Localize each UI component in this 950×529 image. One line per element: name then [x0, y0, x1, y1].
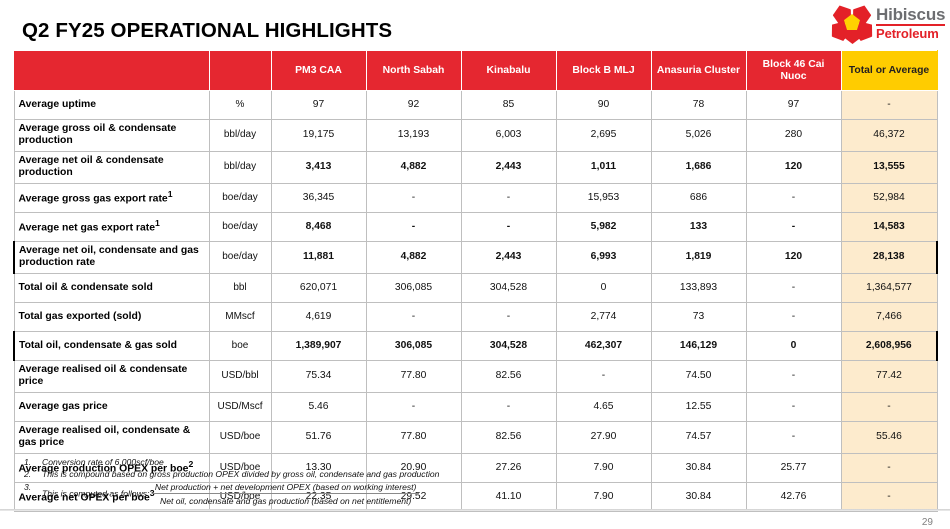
operational-highlights-table-wrap: PM3 CAA North Sabah Kinabalu Block B MLJ…: [13, 50, 937, 512]
row-unit: MMscf: [209, 302, 271, 331]
cell-north-sabah: -: [366, 392, 461, 421]
cell-total-or-average: 2,608,956: [841, 331, 937, 360]
operational-highlights-table: PM3 CAA North Sabah Kinabalu Block B MLJ…: [13, 50, 938, 512]
cell-total-or-average: 46,372: [841, 120, 937, 152]
cell-pm3-caa: 620,071: [271, 273, 366, 302]
cell-pm3-caa: 5.46: [271, 392, 366, 421]
header-north-sabah: North Sabah: [366, 51, 461, 91]
cell-kinabalu: 2,443: [461, 151, 556, 183]
cell-anasuria-cluster: 133,893: [651, 273, 746, 302]
table-header-row: PM3 CAA North Sabah Kinabalu Block B MLJ…: [14, 51, 937, 91]
cell-anasuria-cluster: 1,819: [651, 241, 746, 273]
slide: Hibiscus Petroleum Q2 FY25 OPERATIONAL H…: [0, 0, 950, 529]
cell-total-or-average: 77.42: [841, 360, 937, 392]
table-row: Average net oil & condensate productionb…: [14, 151, 937, 183]
table-row: Total gas exported (sold)MMscf4,619--2,7…: [14, 302, 937, 331]
table-row: Average gas priceUSD/Mscf5.46--4.6512.55…: [14, 392, 937, 421]
table-body: Average uptime%979285907897-Average gros…: [14, 91, 937, 512]
table-row: Average net gas export rate1boe/day8,468…: [14, 212, 937, 241]
row-label: Average realised oil & condensate price: [14, 360, 209, 392]
table-row: Total oil, condensate & gas soldboe1,389…: [14, 331, 937, 360]
header-block-b-mlj: Block B MLJ: [556, 51, 651, 91]
row-label: Average realised oil, condensate & gas p…: [14, 421, 209, 453]
row-unit: USD/boe: [209, 421, 271, 453]
cell-anasuria-cluster: 146,129: [651, 331, 746, 360]
cell-pm3-caa: 75.34: [271, 360, 366, 392]
table-row: Average uptime%979285907897-: [14, 91, 937, 120]
cell-anasuria-cluster: 686: [651, 183, 746, 212]
cell-total-or-average: 1,364,577: [841, 273, 937, 302]
cell-total-or-average: -: [841, 392, 937, 421]
header-total-or-average: Total or Average: [841, 51, 937, 91]
footnote-prefix: This is computed as follows:: [42, 489, 152, 499]
cell-block-46-cai-nuoc: -: [746, 183, 841, 212]
cell-block-46-cai-nuoc: -: [746, 360, 841, 392]
cell-kinabalu: 85: [461, 91, 556, 120]
cell-anasuria-cluster: 74.57: [651, 421, 746, 453]
cell-anasuria-cluster: 1,686: [651, 151, 746, 183]
cell-total-or-average: -: [841, 91, 937, 120]
cell-block-46-cai-nuoc: 42.76: [746, 482, 841, 511]
cell-kinabalu: -: [461, 392, 556, 421]
cell-north-sabah: 92: [366, 91, 461, 120]
cell-kinabalu: -: [461, 212, 556, 241]
cell-block-b-mlj: 0: [556, 273, 651, 302]
cell-north-sabah: 77.80: [366, 421, 461, 453]
cell-block-46-cai-nuoc: 0: [746, 331, 841, 360]
table-row: Average gross gas export rate1boe/day36,…: [14, 183, 937, 212]
logo-primary-name: Hibiscus: [876, 6, 945, 23]
cell-total-or-average: 14,583: [841, 212, 937, 241]
cell-block-46-cai-nuoc: -: [746, 302, 841, 331]
row-unit: USD/Mscf: [209, 392, 271, 421]
cell-pm3-caa: 97: [271, 91, 366, 120]
footnote-item: 2.This is compound based on gross produc…: [20, 468, 720, 480]
header-pm3-caa: PM3 CAA: [271, 51, 366, 91]
header-block-46-cai-nuoc: Block 46 Cai Nuoc: [746, 51, 841, 91]
cell-block-46-cai-nuoc: 120: [746, 241, 841, 273]
cell-pm3-caa: 3,413: [271, 151, 366, 183]
cell-pm3-caa: 8,468: [271, 212, 366, 241]
cell-block-46-cai-nuoc: 97: [746, 91, 841, 120]
cell-north-sabah: -: [366, 302, 461, 331]
row-label: Average net oil & condensate production: [14, 151, 209, 183]
cell-block-b-mlj: -: [556, 360, 651, 392]
cell-north-sabah: 4,882: [366, 151, 461, 183]
cell-block-46-cai-nuoc: -: [746, 392, 841, 421]
row-label: Average uptime: [14, 91, 209, 120]
cell-pm3-caa: 19,175: [271, 120, 366, 152]
cell-block-b-mlj: 5,982: [556, 212, 651, 241]
row-unit: bbl/day: [209, 151, 271, 183]
header-unit: [209, 51, 271, 91]
row-unit: bbl/day: [209, 120, 271, 152]
row-unit: %: [209, 91, 271, 120]
row-label: Average gross gas export rate1: [14, 183, 209, 212]
cell-block-46-cai-nuoc: 120: [746, 151, 841, 183]
cell-anasuria-cluster: 12.55: [651, 392, 746, 421]
cell-kinabalu: 304,528: [461, 331, 556, 360]
cell-anasuria-cluster: 133: [651, 212, 746, 241]
cell-pm3-caa: 51.76: [271, 421, 366, 453]
cell-anasuria-cluster: 78: [651, 91, 746, 120]
row-label: Average net oil, condensate and gas prod…: [14, 241, 209, 273]
footnote-item: 3.This is computed as follows: Net produ…: [20, 481, 720, 508]
cell-block-b-mlj: 2,774: [556, 302, 651, 331]
cell-total-or-average: -: [841, 482, 937, 511]
cell-kinabalu: 6,003: [461, 120, 556, 152]
row-label: Average net gas export rate1: [14, 212, 209, 241]
cell-total-or-average: 52,984: [841, 183, 937, 212]
footnote-item: 1.Conversion rate of 6,000scf/boe: [20, 456, 720, 468]
header-anasuria-cluster: Anasuria Cluster: [651, 51, 746, 91]
cell-kinabalu: -: [461, 302, 556, 331]
footnotes: 1.Conversion rate of 6,000scf/boe2.This …: [20, 456, 720, 508]
cell-block-b-mlj: 27.90: [556, 421, 651, 453]
cell-north-sabah: 13,193: [366, 120, 461, 152]
header-metric: [14, 51, 209, 91]
row-label: Total oil, condensate & gas sold: [14, 331, 209, 360]
cell-total-or-average: -: [841, 453, 937, 482]
table-row: Average gross oil & condensate productio…: [14, 120, 937, 152]
cell-block-b-mlj: 6,993: [556, 241, 651, 273]
cell-north-sabah: 4,882: [366, 241, 461, 273]
cell-total-or-average: 7,466: [841, 302, 937, 331]
cell-pm3-caa: 1,389,907: [271, 331, 366, 360]
row-label: Average gas price: [14, 392, 209, 421]
row-unit: boe/day: [209, 212, 271, 241]
cell-kinabalu: 82.56: [461, 421, 556, 453]
footnote-text: Conversion rate of 6,000scf/boe: [42, 456, 720, 468]
table-header: PM3 CAA North Sabah Kinabalu Block B MLJ…: [14, 51, 937, 91]
cell-north-sabah: -: [366, 212, 461, 241]
cell-total-or-average: 55.46: [841, 421, 937, 453]
cell-north-sabah: 77.80: [366, 360, 461, 392]
row-unit: boe: [209, 331, 271, 360]
hibiscus-petroleum-logo: Hibiscus Petroleum: [830, 3, 946, 43]
footer-divider: [0, 509, 950, 511]
table-row: Average net oil, condensate and gas prod…: [14, 241, 937, 273]
table-row: Average realised oil, condensate & gas p…: [14, 421, 937, 453]
cell-block-46-cai-nuoc: -: [746, 421, 841, 453]
row-unit: boe/day: [209, 241, 271, 273]
logo-secondary-name: Petroleum: [876, 27, 945, 40]
footnote-number: 1.: [20, 456, 42, 468]
footnote-number: 2.: [20, 468, 42, 480]
cell-kinabalu: 304,528: [461, 273, 556, 302]
footnote-fraction: Net production + net development OPEX (b…: [152, 481, 420, 508]
cell-block-46-cai-nuoc: 280: [746, 120, 841, 152]
footnote-number: 3.: [20, 481, 42, 493]
table-row: Average realised oil & condensate priceU…: [14, 360, 937, 392]
cell-block-b-mlj: 4.65: [556, 392, 651, 421]
cell-block-b-mlj: 2,695: [556, 120, 651, 152]
cell-kinabalu: -: [461, 183, 556, 212]
page-number: 29: [922, 517, 933, 528]
row-unit: boe/day: [209, 183, 271, 212]
cell-block-46-cai-nuoc: -: [746, 212, 841, 241]
cell-total-or-average: 28,138: [841, 241, 937, 273]
cell-pm3-caa: 36,345: [271, 183, 366, 212]
fraction-numerator: Net production + net development OPEX (b…: [152, 481, 420, 494]
cell-north-sabah: 306,085: [366, 331, 461, 360]
row-label: Average gross oil & condensate productio…: [14, 120, 209, 152]
cell-anasuria-cluster: 74.50: [651, 360, 746, 392]
cell-anasuria-cluster: 73: [651, 302, 746, 331]
cell-block-b-mlj: 462,307: [556, 331, 651, 360]
cell-block-b-mlj: 15,953: [556, 183, 651, 212]
table-row: Total oil & condensate soldbbl620,071306…: [14, 273, 937, 302]
fraction-denominator: Net oil, condensate and gas production (…: [152, 494, 420, 507]
cell-north-sabah: 306,085: [366, 273, 461, 302]
cell-kinabalu: 2,443: [461, 241, 556, 273]
cell-pm3-caa: 11,881: [271, 241, 366, 273]
row-unit: USD/bbl: [209, 360, 271, 392]
cell-block-b-mlj: 1,011: [556, 151, 651, 183]
cell-kinabalu: 82.56: [461, 360, 556, 392]
cell-pm3-caa: 4,619: [271, 302, 366, 331]
cell-north-sabah: -: [366, 183, 461, 212]
cell-block-b-mlj: 90: [556, 91, 651, 120]
footnote-text: This is computed as follows: Net product…: [42, 481, 720, 508]
row-unit: bbl: [209, 273, 271, 302]
logo-wordmark: Hibiscus Petroleum: [876, 6, 945, 40]
cell-block-46-cai-nuoc: 25.77: [746, 453, 841, 482]
row-label: Total oil & condensate sold: [14, 273, 209, 302]
cell-block-46-cai-nuoc: -: [746, 273, 841, 302]
header-kinabalu: Kinabalu: [461, 51, 556, 91]
cell-total-or-average: 13,555: [841, 151, 937, 183]
page-title: Q2 FY25 OPERATIONAL HIGHLIGHTS: [22, 19, 392, 43]
footnote-text: This is compound based on gross producti…: [42, 468, 720, 480]
hibiscus-flower-icon: [830, 4, 874, 42]
cell-anasuria-cluster: 5,026: [651, 120, 746, 152]
row-label: Total gas exported (sold): [14, 302, 209, 331]
